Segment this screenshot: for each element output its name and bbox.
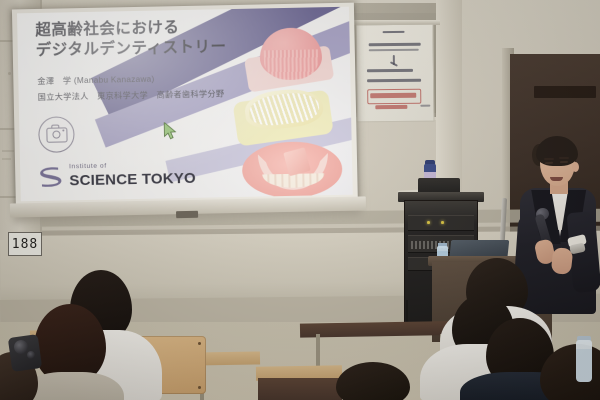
rack-display-value: 188 [12,238,38,251]
chair-screw-4 [198,386,201,389]
door-header-sign [534,86,596,98]
logo-science-tokyo: SCIENCE TOKYO [69,171,196,189]
slide-author: 金澤 学 (Manabu Kanazawa) [37,73,154,87]
desk-center-front [258,378,342,400]
whiteboard-notes [355,24,434,123]
projection-screen: 超高齢社会における デジタルデンティストリー 金澤 学 (Manabu Kana… [12,3,358,220]
rack-led-1 [427,221,430,224]
rack-led-2 [441,221,444,224]
science-tokyo-logo-mark [37,162,64,189]
audience-camera-lens-2 [27,351,35,359]
presenter-brow-left [544,158,554,160]
audience-camera [8,334,42,372]
presenter-hair [536,136,578,166]
institute-logo-text: Institute of SCIENCE TOKYO [69,162,196,188]
screen-frame: 超高齢社会における デジタルデンティストリー 金澤 学 (Manabu Kana… [12,3,358,206]
chair-screw-2 [198,342,201,345]
slide-title: 超高齢社会における デジタルデンティストリー [35,16,286,61]
camera-icon-lens [52,131,60,139]
cabinet-marking-2 [2,158,11,160]
camera-icon-body [46,127,67,142]
presenter-ear [572,162,579,172]
camera-icon-flash-dot [62,130,64,132]
lecture-hall-screenshot: 超高齢社会における デジタルデンティストリー 金澤 学 (Manabu Kana… [0,0,600,400]
camera-icon [38,116,75,153]
slide-image-wax-rim [235,87,334,143]
rack-display: 188 [8,232,42,256]
audience-bottle [576,340,592,382]
slide-image-complete-denture [242,141,345,201]
screen-bracket [176,211,198,218]
presentation-slide: 超高齢社会における デジタルデンティストリー 金澤 学 (Manabu Kana… [17,7,353,202]
presenter-mouth [550,177,563,181]
institute-logo: Institute of SCIENCE TOKYO [37,160,196,189]
presenter-brow-right [559,157,569,159]
